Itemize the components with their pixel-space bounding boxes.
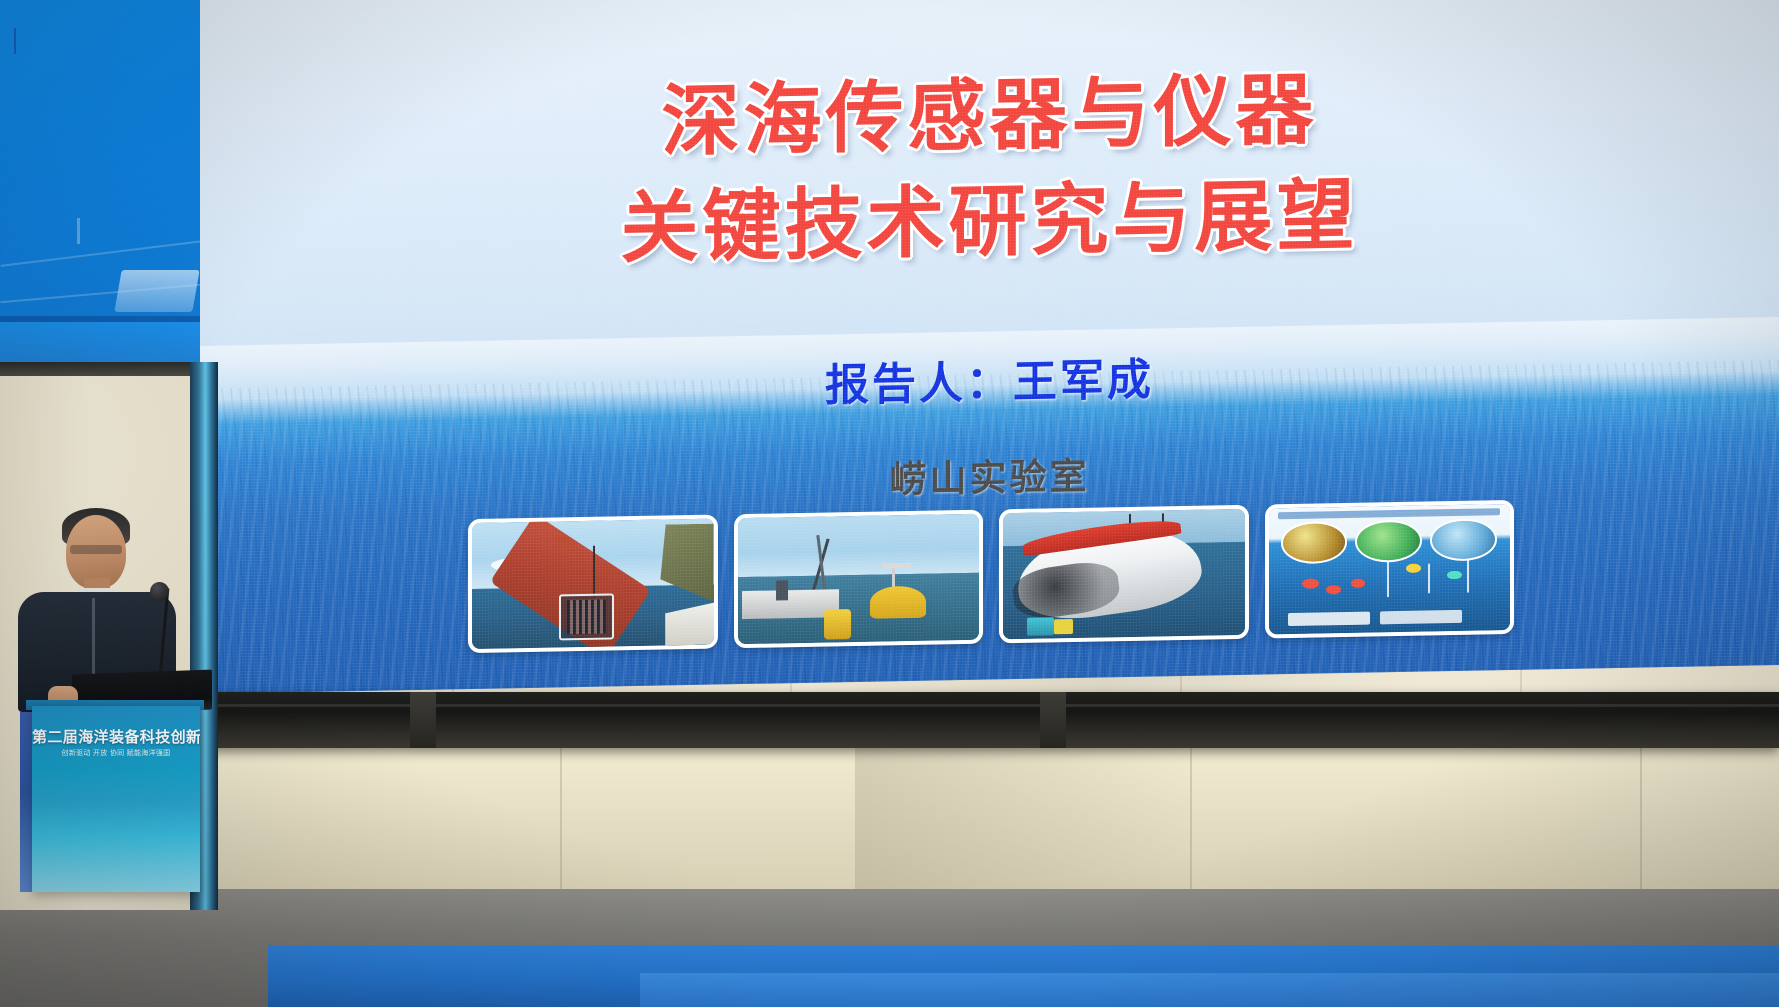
rosette-bottles: [567, 600, 606, 634]
thumbnail-manned-submersible-recovery: [999, 505, 1249, 644]
microphone-icon: [150, 582, 169, 601]
buoy-mast: [892, 566, 895, 589]
screen-base-bar: [200, 692, 1779, 748]
slide-thumbnail-row: [468, 500, 1514, 653]
diagram-node: [1326, 585, 1340, 594]
diagram-node: [1406, 564, 1420, 573]
ctd-rosette-sampler: [559, 593, 614, 640]
left-led-wing: [0, 0, 212, 365]
led-presentation-screen: 深海传感器与仪器 关键技术研究与展望 报告人：王军成 崂山实验室: [200, 0, 1779, 694]
wing-tick: [14, 28, 16, 54]
barge-tower: [776, 580, 788, 600]
yellow-observation-buoy: [870, 585, 926, 619]
deck-equipment-box: [1054, 619, 1073, 634]
diagram-mooring-line: [1428, 563, 1430, 593]
thumbnail-buoy-deployment-barge: [734, 510, 984, 649]
photo-sky: [738, 514, 980, 578]
thumbnail-ocean-observation-network-diagram: [1265, 500, 1515, 639]
secondary-buoy: [824, 609, 851, 640]
diagram-mooring-line: [1387, 562, 1389, 597]
winch-cable: [593, 546, 595, 596]
diagram-caption-panel: [1288, 611, 1370, 626]
screen-base-highlight: [200, 704, 1779, 707]
diagram-caption-panel: [1380, 609, 1462, 624]
screen-base-post: [1040, 692, 1066, 748]
buoy-sensor-head: [882, 563, 911, 569]
podium-banner-title: 第二届海洋装备科技创新大会: [32, 726, 200, 747]
diagram-node: [1302, 578, 1319, 588]
conference-stage-scene: 深海传感器与仪器 关键技术研究与展望 报告人：王军成 崂山实验室: [0, 0, 1779, 1007]
speaker-glasses: [70, 545, 122, 554]
slide-title: 深海传感器与仪器 关键技术研究与展望: [200, 49, 1779, 290]
deck-equipment-box: [1027, 617, 1054, 636]
thumbnail-ctd-rosette-deployment: [468, 515, 718, 654]
offshore-platform-graphic: [114, 270, 199, 312]
left-pillar-top-cap: [0, 362, 218, 376]
diagram-node: [1351, 578, 1365, 587]
diagram-mooring-line: [1467, 560, 1469, 593]
slide-canvas: 深海传感器与仪器 关键技术研究与展望 报告人：王军成 崂山实验室: [200, 0, 1779, 694]
screen-base-post: [410, 692, 436, 748]
wing-line: [1, 239, 212, 267]
wing-tick: [77, 218, 80, 244]
podium-banner-subtitle: 创新驱动 开放 协同 赋能海洋强国: [32, 748, 200, 758]
floor-blue-strip-front: [640, 973, 1779, 1007]
wing-water: [0, 322, 212, 365]
